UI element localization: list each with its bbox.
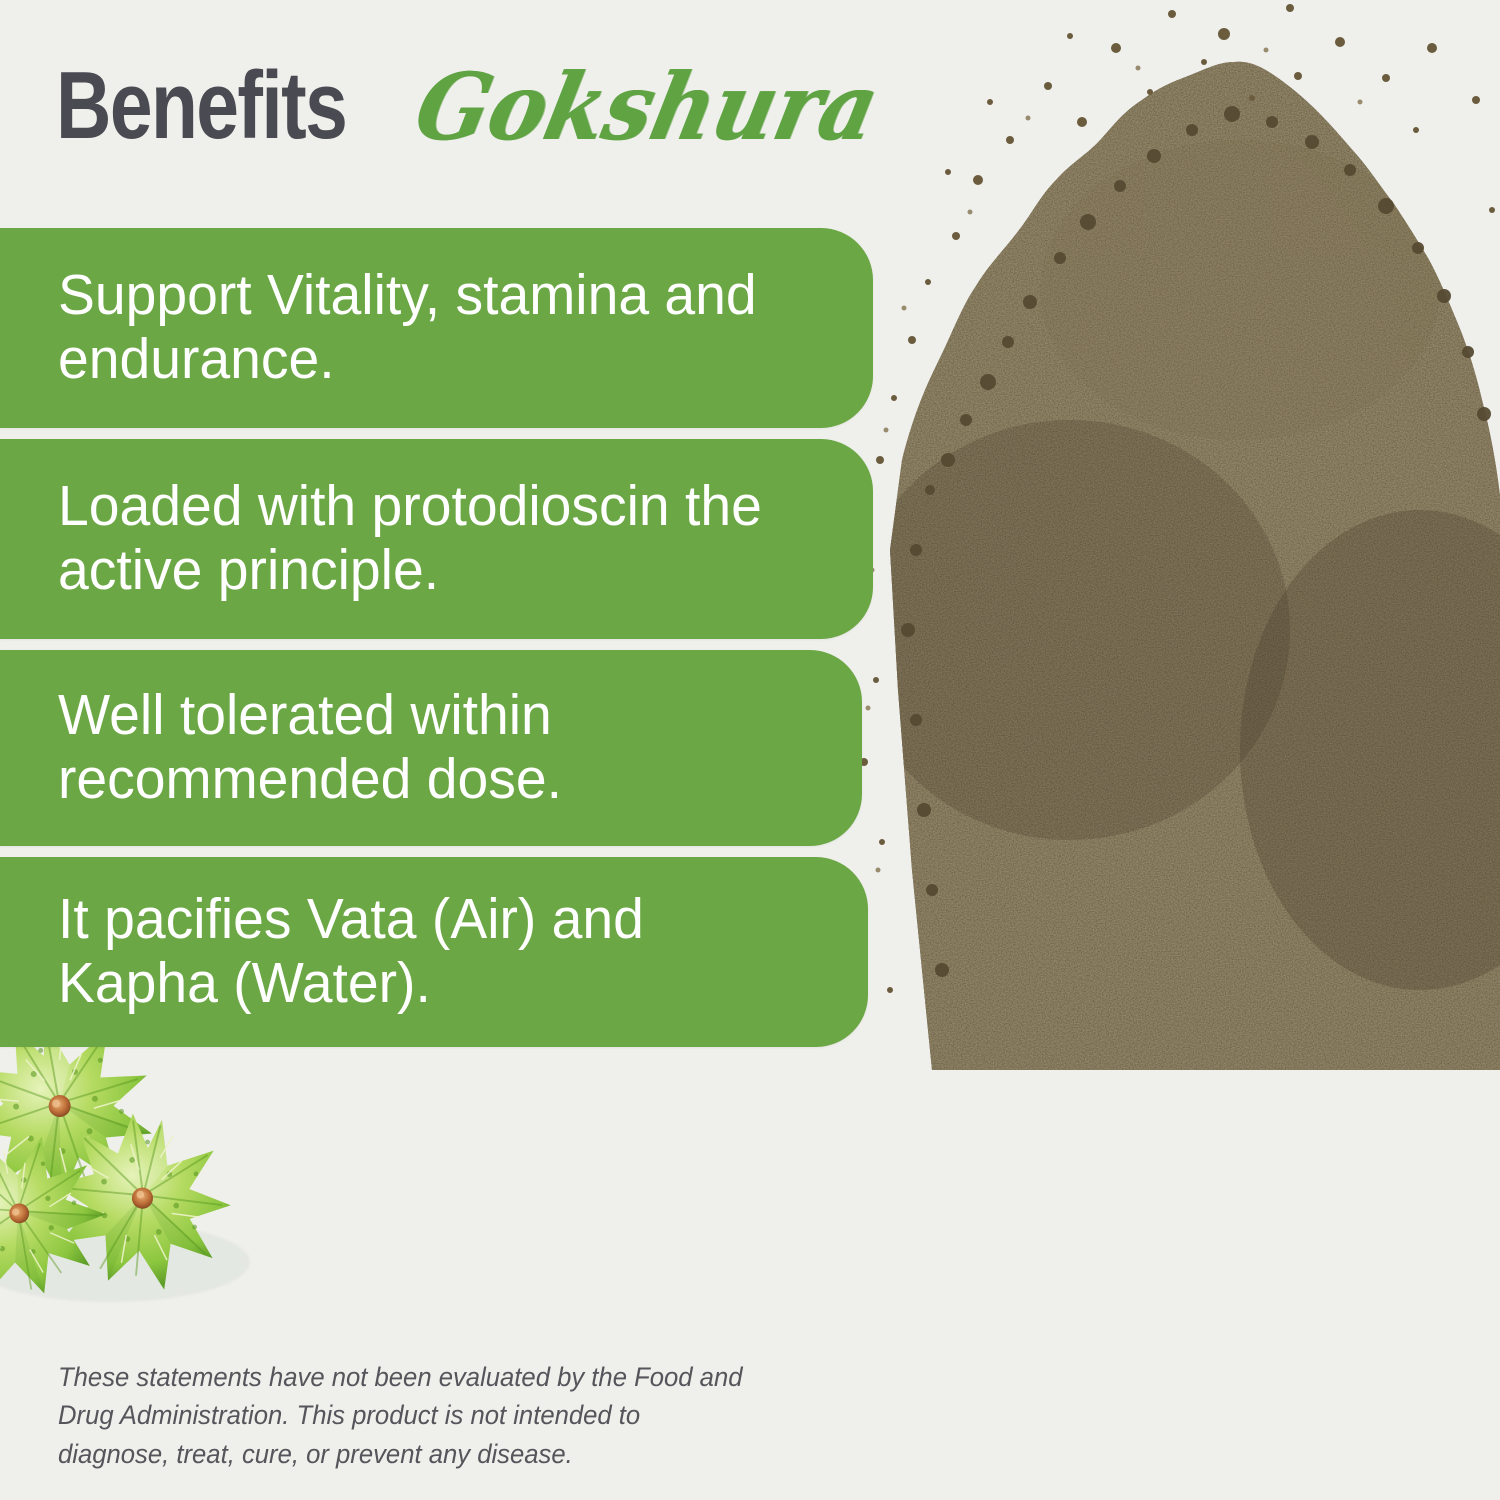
benefit-item-3: Well tolerated within recommended dose.	[0, 650, 862, 846]
title-benefits: Benefits	[56, 62, 346, 150]
benefit-item-4: It pacifies Vata (Air) and Kapha (Water)…	[0, 857, 868, 1047]
infographic-canvas: Benefits Gokshura Support Vitality, stam…	[0, 0, 1500, 1500]
title-gokshura: Gokshura	[409, 66, 884, 149]
benefit-item-1: Support Vitality, stamina and endurance.	[0, 228, 873, 428]
benefit-text: Well tolerated within recommended dose.	[58, 684, 799, 812]
benefit-text: Support Vitality, stamina and endurance.	[58, 264, 810, 392]
page-title: Benefits Gokshura	[56, 62, 906, 150]
benefit-item-2: Loaded with protodioscin the active prin…	[0, 439, 873, 639]
benefit-text: It pacifies Vata (Air) and Kapha (Water)…	[58, 888, 805, 1016]
benefit-text: Loaded with protodioscin the active prin…	[58, 475, 810, 603]
fda-disclaimer: These statements have not been evaluated…	[58, 1358, 752, 1473]
benefits-list: Support Vitality, stamina and endurance.…	[0, 228, 890, 1058]
